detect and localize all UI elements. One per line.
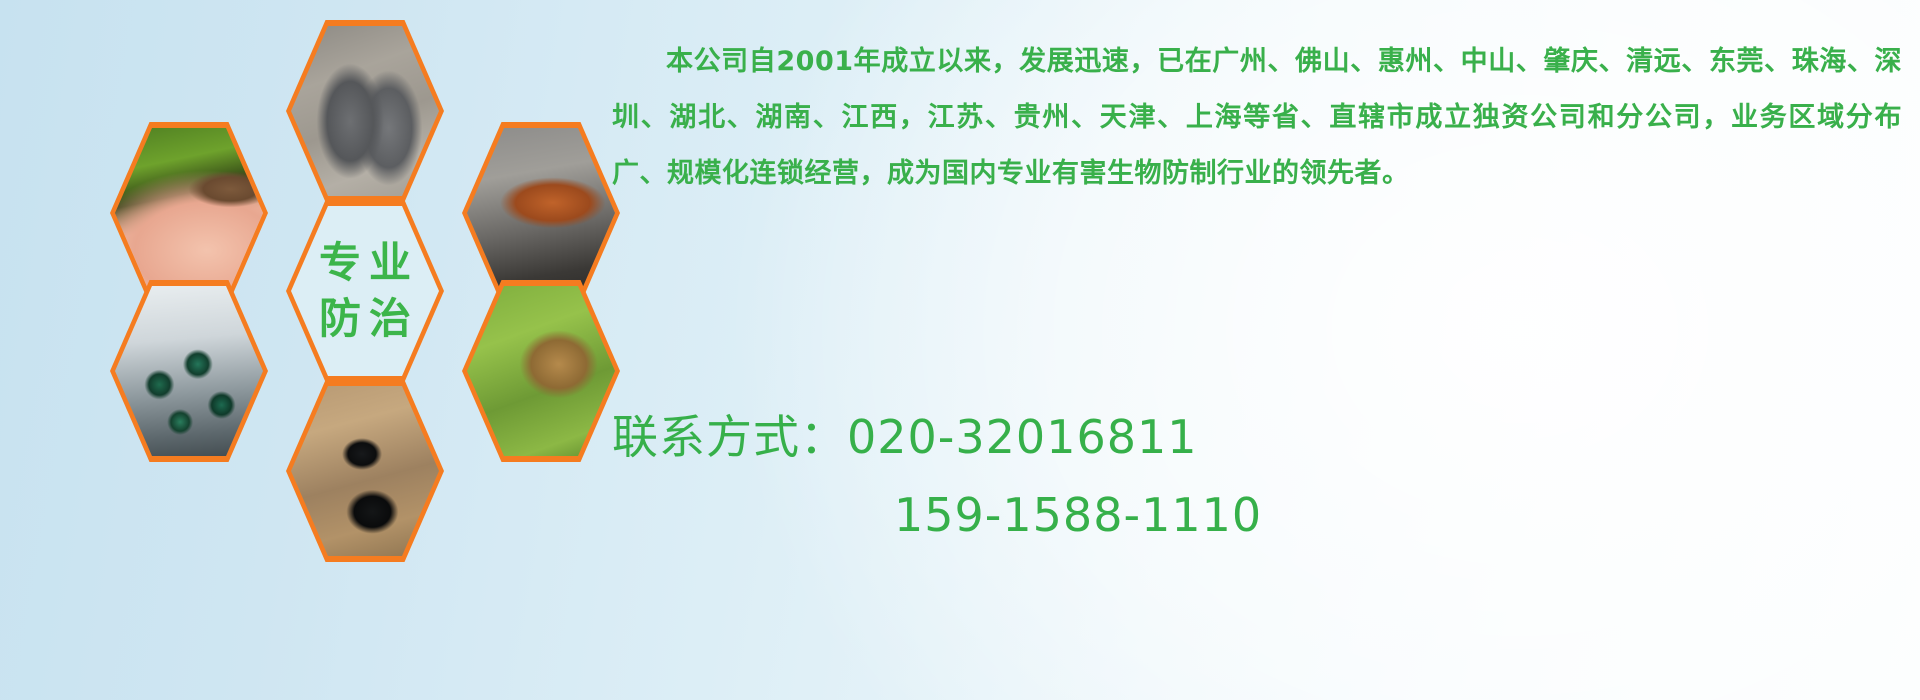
slogan: 专业 防治 — [291, 206, 439, 376]
hex-inner: 专业 防治 — [291, 206, 439, 376]
ant-photo — [291, 386, 439, 556]
contact-label: 联系方式： — [612, 410, 847, 464]
hex-inner — [291, 386, 439, 556]
slogan-line-1: 专业 — [311, 242, 419, 284]
hex-cell-stinkbug[interactable] — [462, 280, 620, 462]
hex-cell-mosquito[interactable] — [110, 122, 268, 304]
hex-cell-rodent[interactable] — [286, 20, 444, 202]
contact-secondary-line[interactable]: 159-1588-1110 — [612, 476, 1902, 554]
hex-cell-cockroach[interactable] — [462, 122, 620, 304]
contact-primary-line[interactable]: 联系方式：020-32016811 — [612, 398, 1902, 476]
company-intro-paragraph: 本公司自2001年成立以来，发展迅速，已在广州、佛山、惠州、中山、肇庆、清远、东… — [612, 34, 1902, 202]
rodent-photo — [291, 26, 439, 196]
hex-cell-center: 专业 防治 — [286, 200, 444, 382]
slogan-line-2: 防治 — [311, 298, 419, 340]
mosquito-photo — [115, 128, 263, 298]
hex-inner — [115, 286, 263, 456]
stinkbug-photo — [467, 286, 615, 456]
contact-block: 联系方式：020-32016811 159-1588-1110 — [612, 398, 1902, 554]
hex-inner — [467, 128, 615, 298]
hex-inner — [467, 286, 615, 456]
phone-primary[interactable]: 020-32016811 — [847, 410, 1198, 464]
hex-cell-flies[interactable] — [110, 280, 268, 462]
flies-photo — [115, 286, 263, 456]
promo-banner: 专业 防治 本公司自2001年成立以来，发展迅速，已在广州、佛山、惠州、中山、肇 — [0, 0, 1920, 700]
hex-cell-ant[interactable] — [286, 380, 444, 562]
honeycomb-gallery: 专业 防治 — [100, 12, 600, 572]
hex-inner — [291, 26, 439, 196]
hex-inner — [115, 128, 263, 298]
company-intro-block: 本公司自2001年成立以来，发展迅速，已在广州、佛山、惠州、中山、肇庆、清远、东… — [612, 34, 1902, 202]
phone-secondary[interactable]: 159-1588-1110 — [894, 488, 1262, 542]
cockroach-photo — [467, 128, 615, 298]
